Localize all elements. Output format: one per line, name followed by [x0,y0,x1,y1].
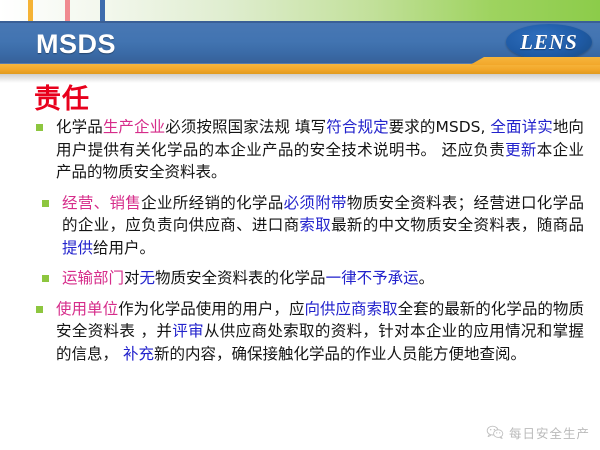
list-item-user: 使用单位作为化学品使用的用户，应向供应商索取全套的最新的化学品的物质安全资料表 … [0,298,600,366]
square-bullet-icon [36,306,43,313]
bullet-text-transport: 运输部门对无物质安全资料表的化学品一律不予承运。 [62,267,584,290]
square-bullet-icon [42,275,49,282]
top-gradient-strip [0,0,600,22]
watermark: 每日安全生产 [486,423,590,442]
bullet-text-distributor: 经营、销售企业所经销的化学品必须附带物质安全资料表；经营进口化学品的企业，应负责… [62,192,584,260]
decor-tick-orange [28,0,33,22]
list-item-distributor: 经营、销售企业所经销的化学品必须附带物质安全资料表；经营进口化学品的企业，应负责… [0,192,600,260]
lens-logo-badge: LENS [506,24,592,60]
section-heading: 责任 [34,84,90,116]
wechat-icon [486,425,504,440]
bullet-text-producer: 化学品生产企业必须按照国家法规 填写符合规定要求的MSDS, 全面详实地向用户提… [56,116,584,184]
content-area: 责任 化学品生产企业必须按照国家法规 填写符合规定要求的MSDS, 全面详实地向… [0,80,600,450]
decor-tick-pink [65,0,70,22]
square-bullet-icon [36,124,43,131]
bullet-text-user: 使用单位作为化学品使用的用户，应向供应商索取全套的最新的化学品的物质安全资料表 … [56,298,584,366]
slide-root: MSDS LENS 责任 化学品生产企业必须按照国家法规 填写符合规定要求的MS… [0,0,600,450]
bullet-list: 化学品生产企业必须按照国家法规 填写符合规定要求的MSDS, 全面详实地向用户提… [0,116,600,373]
header-orange-wedge [470,57,600,65]
lens-logo-text: LENS [506,24,592,60]
watermark-text: 每日安全生产 [509,423,590,442]
header-orange-band [0,64,600,74]
square-bullet-icon [42,200,49,207]
page-title-msds: MSDS [36,27,116,61]
list-item-producer: 化学品生产企业必须按照国家法规 填写符合规定要求的MSDS, 全面详实地向用户提… [0,116,600,184]
list-item-transport: 运输部门对无物质安全资料表的化学品一律不予承运。 [0,267,600,290]
decor-tick-blue [100,0,105,22]
